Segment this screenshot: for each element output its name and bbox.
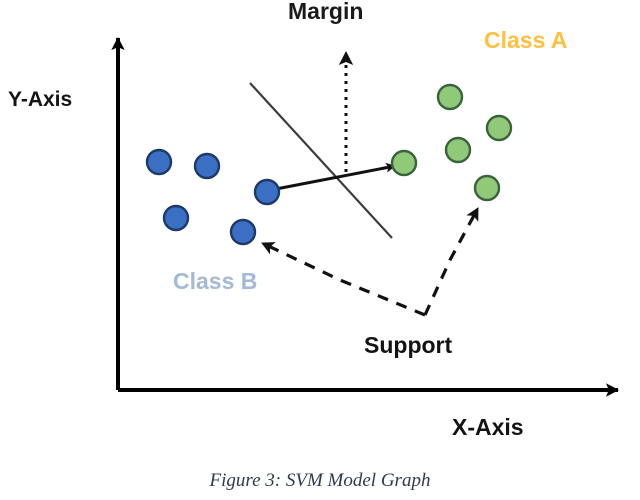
data-point-class-a-support-vector (392, 151, 416, 175)
hyperplane-line (250, 83, 392, 238)
support-callout-left-arrow (262, 243, 425, 315)
x-axis-label: X-Axis (452, 416, 524, 439)
figure-caption: Figure 3: SVM Model Graph (0, 470, 640, 492)
class-a-points (392, 85, 511, 200)
data-point-class-b-support-vector (231, 220, 255, 244)
data-point-class-b-support-vector (255, 180, 279, 204)
y-axis-label: Y-Axis (8, 89, 72, 110)
data-point-class-a-support-vector (475, 176, 499, 200)
data-point-class-a (438, 85, 462, 109)
data-point-class-b (147, 150, 171, 174)
data-point-class-a (446, 138, 470, 162)
svm-figure: Margin Class A Y-Axis Class B Support X-… (0, 0, 640, 500)
data-point-class-a (487, 116, 511, 140)
class-b-label: Class B (173, 270, 257, 293)
support-label: Support (364, 334, 452, 357)
class-a-label: Class A (484, 29, 568, 52)
support-callout-right-arrow (425, 208, 478, 315)
data-point-class-b (195, 154, 219, 178)
svm-plot-canvas (0, 0, 640, 500)
data-point-class-b (164, 206, 188, 230)
class-b-points (147, 150, 279, 244)
margin-label: Margin (288, 0, 363, 23)
margin-double-arrow (276, 166, 395, 189)
